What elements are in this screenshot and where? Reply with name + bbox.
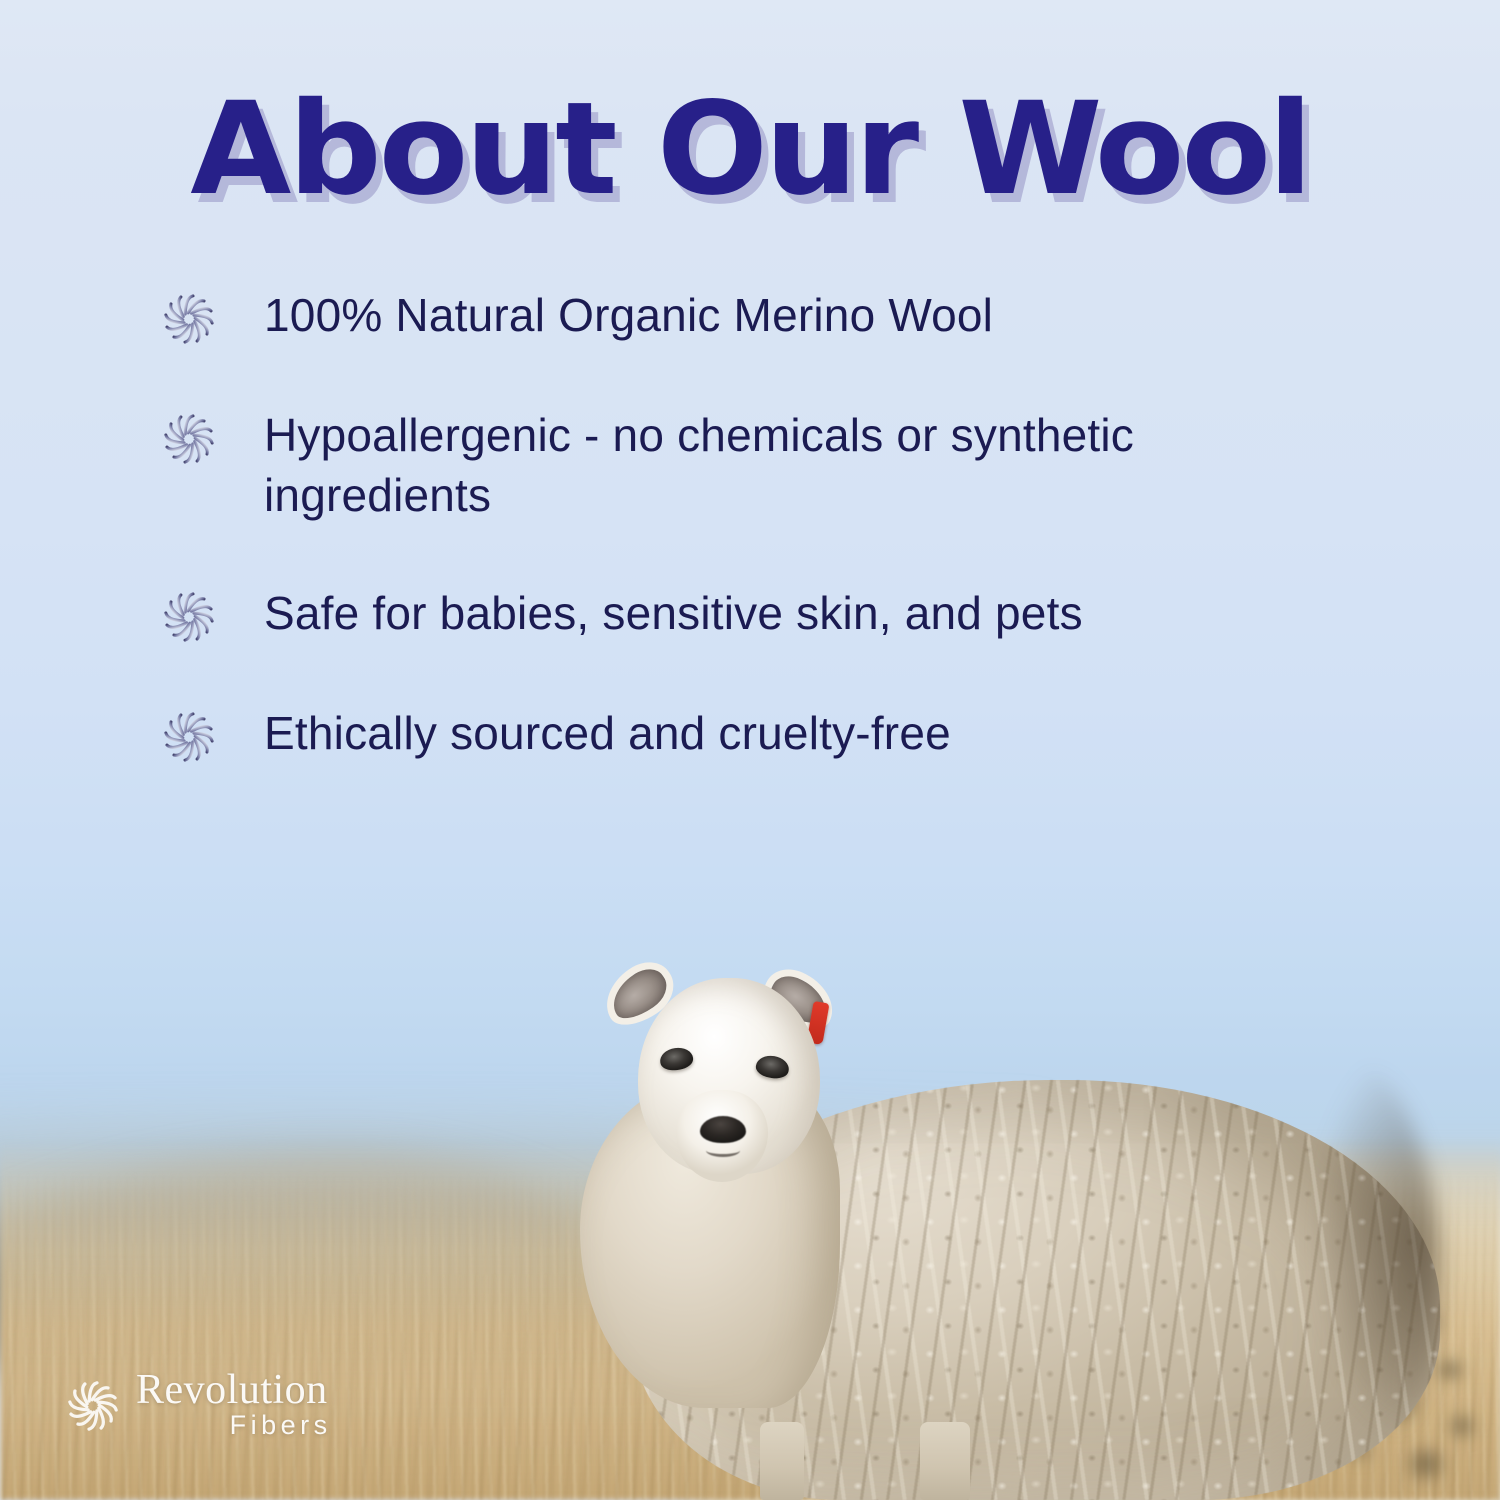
list-item: Hypoallergenic - no chemicals or synthet…: [160, 406, 1340, 526]
list-item-label: Safe for babies, sensitive skin, and pet…: [264, 584, 1083, 644]
logo-wordmark: Revolution Fibers: [136, 1370, 328, 1441]
sheep-mouth: [706, 1144, 740, 1157]
logo-name: Revolution: [136, 1370, 328, 1410]
list-item: Ethically sourced and cruelty-free: [160, 704, 1340, 766]
logo-subname: Fibers: [230, 1411, 332, 1441]
list-item: 100% Natural Organic Merino Wool: [160, 286, 1340, 348]
wool-info-poster: About Our Wool: [0, 0, 1500, 1500]
fiber-swirl-icon: [160, 290, 218, 348]
fiber-swirl-icon: [160, 588, 218, 646]
page-title: About Our Wool: [0, 86, 1500, 214]
rump-shadow: [1250, 1060, 1440, 1460]
feature-list: 100% Natural Organic Merino Wool: [160, 286, 1340, 824]
fiber-swirl-icon: [160, 410, 218, 468]
brand-logo: Revolution Fibers: [64, 1370, 328, 1441]
sheep: [560, 930, 1440, 1500]
sheep-nose: [700, 1116, 746, 1143]
list-item-label: 100% Natural Organic Merino Wool: [264, 286, 993, 346]
list-item-label: Hypoallergenic - no chemicals or synthet…: [264, 406, 1324, 526]
fiber-swirl-icon: [160, 708, 218, 766]
list-item-label: Ethically sourced and cruelty-free: [264, 704, 951, 764]
list-item: Safe for babies, sensitive skin, and pet…: [160, 584, 1340, 646]
sheep-leg-back: [920, 1422, 970, 1500]
sheep-leg-front: [760, 1422, 804, 1500]
fiber-swirl-icon: [64, 1377, 122, 1435]
